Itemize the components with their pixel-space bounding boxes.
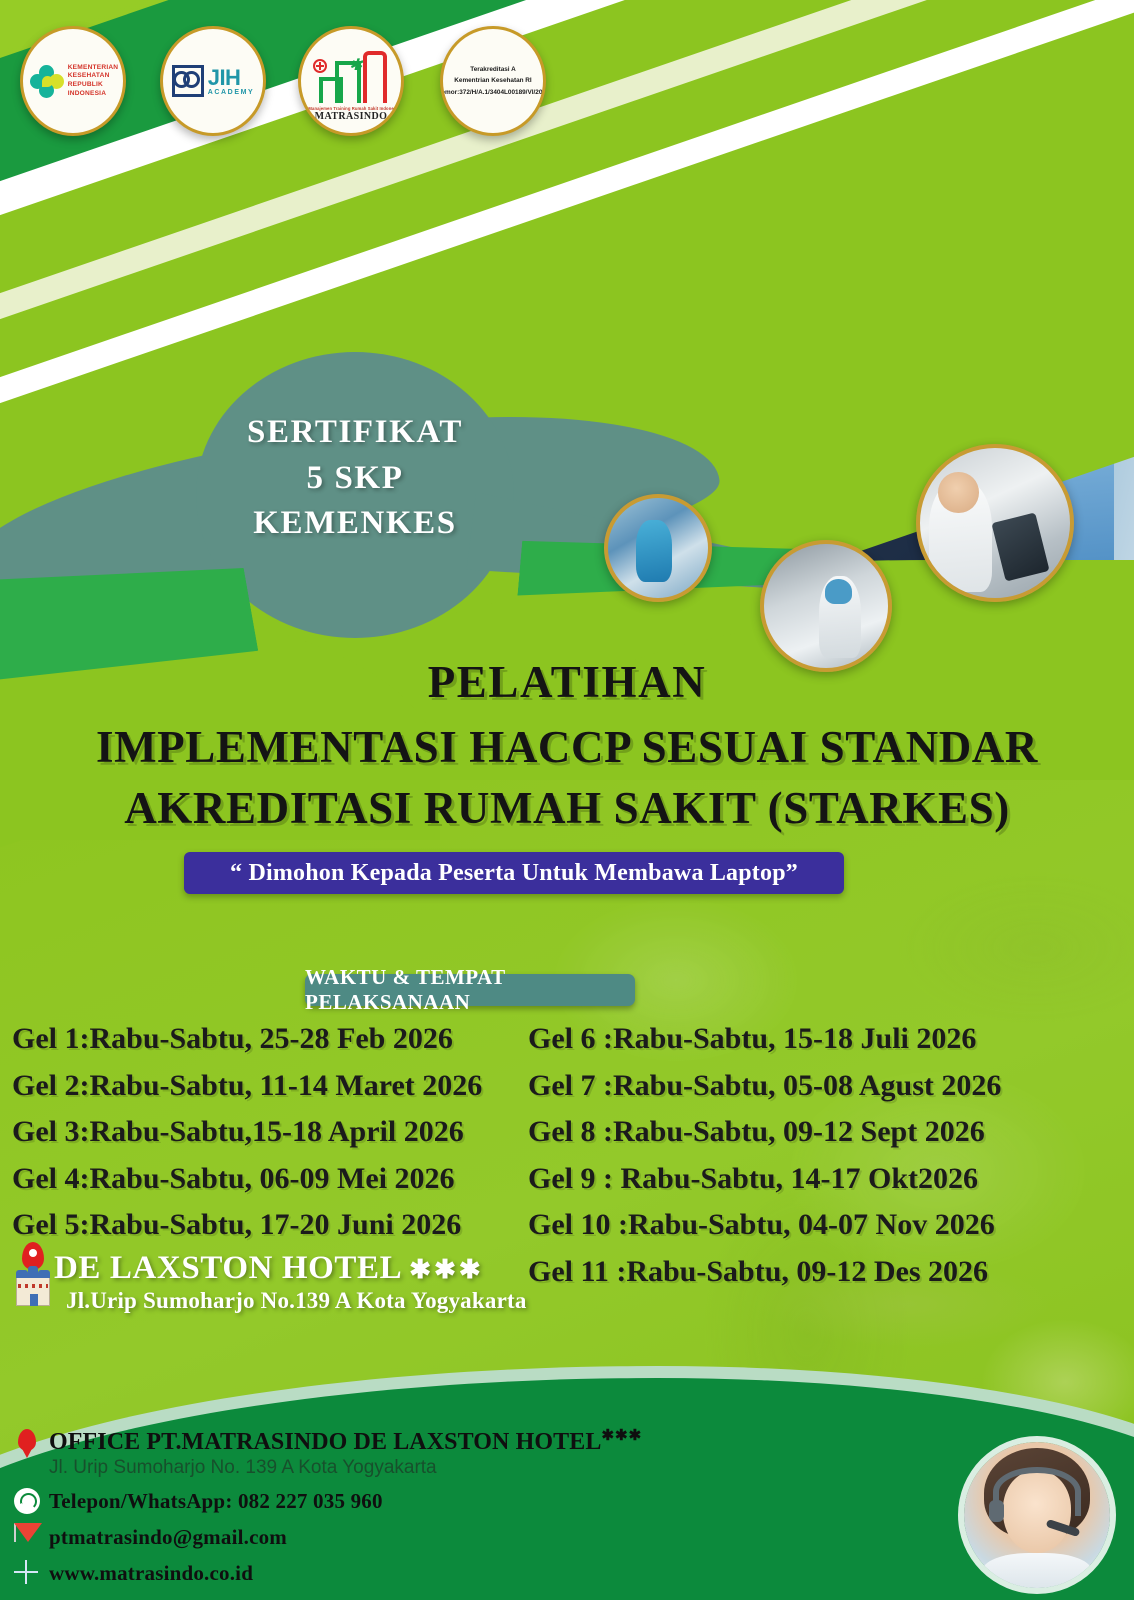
matrasindo-building-icon: ✱ bbox=[311, 47, 391, 105]
matrasindo-name: MATRASINDO bbox=[301, 111, 401, 122]
logo-row: KEMENTERIAN KESEHATAN REPUBLIK INDONESIA… bbox=[0, 26, 580, 150]
jih-subtitle: ACADEMY bbox=[208, 89, 255, 96]
headline-line-1: PELATIHAN bbox=[36, 652, 1098, 713]
hotel-building-icon bbox=[14, 1266, 52, 1306]
venue-name-text: DE LAXSTON HOTEL bbox=[54, 1250, 400, 1286]
whatsapp-icon[interactable] bbox=[14, 1488, 40, 1514]
certificate-badge-text: SERTIFIKAT 5 SKP KEMENKES bbox=[196, 410, 514, 547]
schedule-item: Gel 7 :Rabu-Sabtu, 05-08 Agust 2026 bbox=[528, 1063, 1128, 1110]
headline-line-2: IMPLEMENTASI HACCP SESUAI STANDAR bbox=[36, 717, 1098, 778]
customer-service-photo bbox=[964, 1442, 1110, 1588]
email-icon[interactable] bbox=[14, 1524, 40, 1550]
schedule-item: Gel 9 : Rabu-Sabtu, 14-17 Okt2026 bbox=[528, 1156, 1128, 1203]
certificate-line-1: SERTIFIKAT bbox=[196, 410, 514, 456]
schedule-item: Gel 3:Rabu-Sabtu,15-18 April 2026 bbox=[12, 1109, 532, 1156]
venue-name: DE LAXSTON HOTEL ✱✱✱ bbox=[54, 1250, 527, 1286]
jih-title: JIH bbox=[208, 67, 255, 89]
kemenkes-line-3: REPUBLIK bbox=[68, 81, 119, 90]
accreditation-line-2: Kementrian Kesehatan RI bbox=[440, 75, 546, 86]
schedule-item: Gel 6 :Rabu-Sabtu, 15-18 Juli 2026 bbox=[528, 1016, 1128, 1063]
laptop-notice-banner: “ Dimohon Kepada Peserta Untuk Membawa L… bbox=[184, 852, 844, 894]
cs-shirt bbox=[982, 1553, 1093, 1588]
kemenkes-icon bbox=[30, 64, 64, 98]
footer-office-line: OFFICE PT.MATRASINDO DE LAXSTON HOTEL✱✱✱ bbox=[0, 1428, 1134, 1455]
schedule-item: Gel 8 :Rabu-Sabtu, 09-12 Sept 2026 bbox=[528, 1109, 1128, 1156]
venue-star-rating: ✱✱✱ bbox=[409, 1255, 483, 1284]
accreditation-line-3: Nomor:372/H/A.1/3404L00189/VI/2024 bbox=[440, 87, 546, 98]
kemenkes-line-2: KESEHATAN bbox=[68, 72, 119, 81]
photo-tablet-prop bbox=[991, 512, 1049, 581]
footer-email-line[interactable]: ptmatrasindo@gmail.com bbox=[0, 1524, 1134, 1550]
cs-earpiece bbox=[989, 1500, 1004, 1522]
accreditation-line-1: Terakreditasi A bbox=[440, 64, 546, 75]
schedule-item: Gel 2:Rabu-Sabtu, 11-14 Maret 2026 bbox=[12, 1063, 532, 1110]
matrasindo-tagline: PT.Manajemen Training Rumah Sakit Indone… bbox=[301, 106, 401, 111]
medical-cross-icon bbox=[313, 59, 327, 73]
kemenkes-logo-text: KEMENTERIAN KESEHATAN REPUBLIK INDONESIA bbox=[68, 64, 119, 99]
headset-icon bbox=[993, 1467, 1081, 1517]
photo-circle-food-inspector bbox=[916, 444, 1074, 602]
accreditation-logo-badge: Terakreditasi A Kementrian Kesehatan RI … bbox=[440, 26, 546, 136]
photo-circle-icu bbox=[604, 494, 712, 602]
page-title: PELATIHAN IMPLEMENTASI HACCP SESUAI STAN… bbox=[36, 652, 1098, 840]
footer-office-address: Jl. Urip Sumoharjo No. 139 A Kota Yogyak… bbox=[0, 1456, 1134, 1480]
schedule-section-header: WAKTU & TEMPAT PELAKSANAAN bbox=[305, 974, 635, 1006]
globe-icon[interactable] bbox=[14, 1560, 40, 1586]
certificate-line-3: KEMENKES bbox=[196, 501, 514, 547]
map-pin-icon bbox=[14, 1429, 40, 1455]
matrasindo-logo-badge: ✱ PT.Manajemen Training Rumah Sakit Indo… bbox=[298, 26, 404, 136]
footer-website-text[interactable]: www.matrasindo.co.id bbox=[49, 1561, 253, 1586]
headline-line-3: AKREDITASI RUMAH SAKIT (STARKES) bbox=[36, 778, 1098, 839]
footer-office-stars: ✱✱✱ bbox=[601, 1428, 642, 1444]
jih-emblem-icon bbox=[172, 65, 204, 97]
footer-office-title: OFFICE PT.MATRASINDO DE LAXSTON HOTEL✱✱✱ bbox=[49, 1428, 642, 1455]
footer-office-title-text: OFFICE PT.MATRASINDO DE LAXSTON HOTEL bbox=[49, 1429, 601, 1455]
jih-academy-logo-badge: JIH ACADEMY bbox=[160, 26, 266, 136]
certificate-line-2: 5 SKP bbox=[196, 456, 514, 502]
location-pin-icon bbox=[14, 1242, 48, 1306]
footer-email-text[interactable]: ptmatrasindo@gmail.com bbox=[49, 1525, 287, 1550]
schedule-item: Gel 4:Rabu-Sabtu, 06-09 Mei 2026 bbox=[12, 1156, 532, 1203]
schedule-column-left: Gel 1:Rabu-Sabtu, 25-28 Feb 2026 Gel 2:R… bbox=[12, 1016, 532, 1249]
footer-phone-text[interactable]: Telepon/WhatsApp: 082 227 035 960 bbox=[49, 1489, 383, 1514]
poster-root: KEMENTERIAN KESEHATAN REPUBLIK INDONESIA… bbox=[0, 0, 1134, 1600]
schedule-item: Gel 1:Rabu-Sabtu, 25-28 Feb 2026 bbox=[12, 1016, 532, 1063]
footer-website-line[interactable]: www.matrasindo.co.id bbox=[0, 1560, 1134, 1586]
kemenkes-line-1: KEMENTERIAN bbox=[68, 64, 119, 73]
venue-address: Jl.Urip Sumoharjo No.139 A Kota Yogyakar… bbox=[66, 1288, 527, 1314]
kemenkes-line-4: INDONESIA bbox=[68, 90, 119, 99]
venue-block: DE LAXSTON HOTEL ✱✱✱ Jl.Urip Sumoharjo N… bbox=[14, 1242, 634, 1314]
kemenkes-logo-badge: KEMENTERIAN KESEHATAN REPUBLIK INDONESIA bbox=[20, 26, 126, 136]
schedule-block: Gel 1:Rabu-Sabtu, 25-28 Feb 2026 Gel 2:R… bbox=[0, 1016, 1134, 1266]
